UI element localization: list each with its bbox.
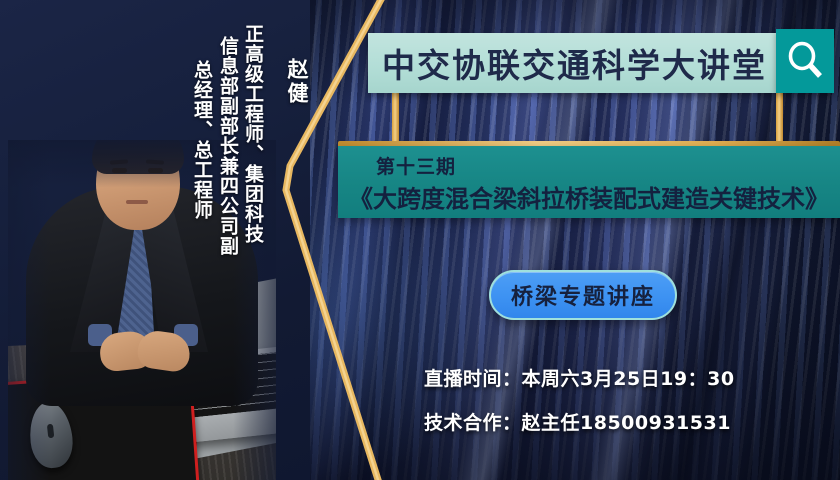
search-icon-box[interactable] [776,29,834,93]
live-time-text: 直播时间：本周六3月25日19：30 [424,364,735,391]
topic-badge[interactable]: 桥梁专题讲座 [489,270,677,320]
search-icon [786,41,824,81]
speaker-credential-line-2: 信息部副部长兼四公司副 [218,36,237,256]
speaker-eye-left [112,168,127,173]
speaker-name: 赵健 [286,58,307,106]
speaker-hair [92,140,184,174]
lecture-banner: 第十三期 《大跨度混合梁斜拉桥装配式建造关键技术》 [338,146,840,218]
speaker-mouth [126,200,148,204]
speaker-eye-right [148,168,163,173]
webinar-poster: 总经理、总工程师 信息部副部长兼四公司副 正高级工程师、集团科技 赵健 中交协联… [0,0,840,480]
lecture-title: 《大跨度混合梁斜拉桥装配式建造关键技术》 [342,179,836,214]
topic-badge-label: 桥梁专题讲座 [511,279,655,311]
issue-label: 第十三期 [376,152,456,179]
brand-title-bar: 中交协联交通科学大讲堂 [368,33,776,93]
speaker-credential-line-3: 总经理、总工程师 [192,60,211,220]
contact-text: 技术合作：赵主任18500931531 [424,408,731,435]
brand-title: 中交协联交通科学大讲堂 [368,39,767,87]
speaker-credential-line-1: 正高级工程师、集团科技 [243,24,262,244]
